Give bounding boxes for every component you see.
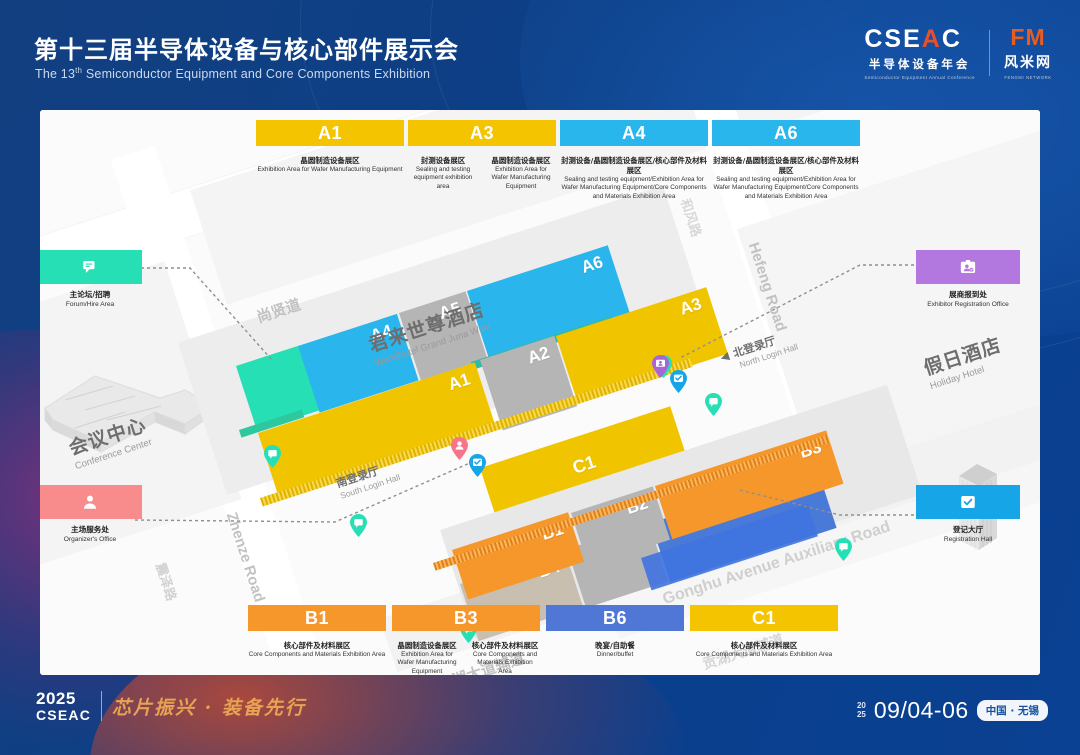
map-pin-forum-b6[interactable] [835, 538, 852, 561]
brand-lockup: CSEAC 半导体设备年会 Semiconductor Equipment An… [864, 26, 1052, 80]
chat-pin-icon [264, 445, 281, 468]
map-pin-organizer-office[interactable] [451, 437, 468, 460]
cseac-word-start: CSE [864, 27, 921, 52]
title-en-pre: The 13 [35, 67, 75, 81]
page-title-en: The 13th Semiconductor Equipment and Cor… [35, 66, 430, 81]
legend-chip-a6-col-0: 封测设备/晶圆制造设备展区/核心部件及材料展区 Sealing and test… [712, 151, 860, 201]
legend-chip-a1[interactable]: A1 晶圆制造设备展区 Exhibition Area for Wafer Ma… [256, 120, 404, 174]
legend-chip-b3-col-1-en: Core Components and Materials Exhibition… [470, 651, 540, 675]
badge-pin-icon [652, 355, 669, 378]
map-pin-registration-south[interactable] [469, 454, 486, 477]
cseac-word-accent: A [922, 27, 942, 52]
legend-chip-b1-bar: B1 [248, 605, 386, 631]
footer-year: 2025 [36, 690, 91, 707]
page-header: 第十三届半导体设备与核心部件展示会 The 13th Semiconductor… [0, 0, 1080, 110]
legend-chip-a4-bar: A4 [560, 120, 708, 146]
chat-pin-icon [350, 514, 367, 537]
legend-chip-a3-bar: A3 [408, 120, 556, 146]
legend-side-registration-box [916, 485, 1020, 519]
legend-chip-a3-col-1-en: Exhibition Area for Wafer Manufacturing … [486, 166, 556, 191]
footer-year-block: 2025 CSEAC [36, 690, 91, 722]
map-pin-exhibitor-registration[interactable] [652, 355, 669, 378]
legend-chip-a1-bar: A1 [256, 120, 404, 146]
legend-chip-b1-col-0: 核心部件及材料展区 Core Components and Materials … [248, 636, 386, 659]
footer-divider [101, 691, 102, 721]
legend-chip-a3-col-0-cn: 封测设备展区 [408, 156, 478, 166]
legend-side-forum-cn: 主论坛/招聘 [40, 289, 142, 300]
person-icon [81, 493, 99, 511]
legend-chip-c1-cols: 核心部件及材料展区 Core Components and Materials … [690, 636, 838, 659]
cseac-logo-sub: Semiconductor Equipment Annual Conferenc… [864, 75, 975, 80]
legend-chip-a4-col-0-cn: 封测设备/晶圆制造设备展区/核心部件及材料展区 [560, 156, 708, 176]
legend-chip-a1-col-0-cn: 晶圆制造设备展区 [256, 156, 404, 166]
check-card-pin-icon [670, 370, 687, 393]
legend-chip-a3-col-1: 晶圆制造设备展区 Exhibition Area for Wafer Manuf… [486, 151, 556, 191]
footer-city-badge: 中国 · 无锡 [977, 700, 1048, 721]
legend-chip-b3-bar: B3 [392, 605, 540, 631]
legend-chip-a3-col-0-en: Sealing and testing equipment exhibition… [408, 166, 478, 191]
cseac-logo-cn: 半导体设备年会 [864, 56, 975, 72]
legend-chip-a1-col-0-en: Exhibition Area for Wafer Manufacturing … [256, 166, 404, 174]
legend-chip-c1-col-0-cn: 核心部件及材料展区 [690, 641, 838, 651]
person-pin-icon [451, 437, 468, 460]
legend-chip-a1-col-0: 晶圆制造设备展区 Exhibition Area for Wafer Manuf… [256, 151, 404, 174]
legend-chip-a4[interactable]: A4 封测设备/晶圆制造设备展区/核心部件及材料展区 Sealing and t… [560, 120, 708, 201]
cseac-wordmark: CSEAC [864, 27, 975, 52]
legend-chip-c1[interactable]: C1 核心部件及材料展区 Core Components and Materia… [690, 605, 838, 659]
legend-chip-b6[interactable]: B6 晚宴/自助餐 Dinner/buffet [546, 605, 684, 659]
fm-logo-sub: FENGMI NETWORK [1004, 75, 1052, 80]
badge-icon [959, 258, 977, 276]
fm-logo: FM 风米网 FENGMI NETWORK [1004, 26, 1052, 80]
chat-icon [81, 258, 99, 276]
map-pin-forum-a4[interactable] [264, 445, 281, 468]
legend-side-exhibitor-cn: 展商报到处 [916, 289, 1020, 300]
legend-chip-b6-col-0: 晚宴/自助餐 Dinner/buffet [546, 636, 684, 659]
legend-side-forum[interactable]: 主论坛/招聘 Forum/Hire Area [40, 250, 142, 308]
legend-chip-b3-col-1-cn: 核心部件及材料展区 [470, 641, 540, 651]
map-pin-forum-a3[interactable] [705, 393, 722, 416]
footer-org: CSEAC [36, 708, 91, 722]
legend-side-registration-cn: 登记大厅 [916, 524, 1020, 535]
fm-wordmark: FM [1004, 26, 1052, 49]
legend-chip-a6-col-0-en: Sealing and testing equipment/Exhibition… [712, 176, 860, 201]
legend-side-organizer[interactable]: 主场服务处 Organizer's Office [40, 485, 142, 543]
legend-chip-b6-cols: 晚宴/自助餐 Dinner/buffet [546, 636, 684, 659]
legend-chip-a4-col-0: 封测设备/晶圆制造设备展区/核心部件及材料展区 Sealing and test… [560, 151, 708, 201]
legend-chip-b1-col-0-cn: 核心部件及材料展区 [248, 641, 386, 651]
legend-chip-b1[interactable]: B1 核心部件及材料展区 Core Components and Materia… [248, 605, 386, 659]
legend-side-registration-en: Registration Hall [916, 536, 1020, 543]
legend-chip-a6[interactable]: A6 封测设备/晶圆制造设备展区/核心部件及材料展区 Sealing and t… [712, 120, 860, 201]
page-title-cn: 第十三届半导体设备与核心部件展示会 [34, 30, 459, 65]
legend-chip-c1-col-0: 核心部件及材料展区 Core Components and Materials … [690, 636, 838, 659]
poster-root: 第十三届半导体设备与核心部件展示会 The 13th Semiconductor… [0, 0, 1080, 755]
legend-chip-b1-col-0-en: Core Components and Materials Exhibition… [248, 651, 386, 659]
map-pin-registration-north[interactable] [670, 370, 687, 393]
legend-chip-a6-cols: 封测设备/晶圆制造设备展区/核心部件及材料展区 Sealing and test… [712, 151, 860, 201]
footer-date: 09/04-06 [874, 697, 969, 724]
brand-divider [989, 30, 990, 76]
title-en-post: Semiconductor Equipment and Core Compone… [82, 67, 430, 81]
legend-chip-a4-col-0-en: Sealing and testing equipment/Exhibition… [560, 176, 708, 201]
footer-slogan: 芯片振兴 · 装备先行 [112, 693, 306, 720]
check-card-pin-icon [469, 454, 486, 477]
legend-chip-b3[interactable]: B3 晶圆制造设备展区 Exhibition Area for Wafer Ma… [392, 605, 540, 675]
legend-chip-a3[interactable]: A3 封测设备展区 Sealing and testing equipment … [408, 120, 556, 191]
legend-chip-a6-col-0-cn: 封测设备/晶圆制造设备展区/核心部件及材料展区 [712, 156, 860, 176]
fm-logo-cn: 风米网 [1004, 52, 1052, 72]
footer-year-small-bottom: 25 [857, 711, 866, 719]
legend-chip-b6-col-0-cn: 晚宴/自助餐 [546, 641, 684, 651]
legend-side-exhibitor-en: Exhibitor Registration Office [916, 301, 1020, 308]
legend-side-exhibitor-box [916, 250, 1020, 284]
legend-chip-a1-cols: 晶圆制造设备展区 Exhibition Area for Wafer Manuf… [256, 151, 404, 174]
cseac-word-end: C [942, 27, 962, 52]
legend-chip-a3-col-0: 封测设备展区 Sealing and testing equipment exh… [408, 151, 478, 191]
legend-chip-b3-cols: 晶圆制造设备展区 Exhibition Area for Wafer Manuf… [392, 636, 540, 675]
legend-chip-a4-cols: 封测设备/晶圆制造设备展区/核心部件及材料展区 Sealing and test… [560, 151, 708, 201]
legend-chip-a3-col-1-cn: 晶圆制造设备展区 [486, 156, 556, 166]
chat-pin-icon [835, 538, 852, 561]
legend-chip-a6-bar: A6 [712, 120, 860, 146]
check-card-icon [959, 493, 977, 511]
legend-side-exhibitor[interactable]: 展商报到处 Exhibitor Registration Office [916, 250, 1020, 308]
legend-side-forum-en: Forum/Hire Area [40, 301, 142, 308]
legend-chip-b6-bar: B6 [546, 605, 684, 631]
floor-map-card: A4 A5 A6 A1 A2 A3 C1 B4 [40, 110, 1040, 675]
legend-chip-c1-bar: C1 [690, 605, 838, 631]
map-pin-forum-a1[interactable] [350, 514, 367, 537]
footer-year-small: 20 25 [857, 702, 866, 719]
legend-chip-b3-col-0: 晶圆制造设备展区 Exhibition Area for Wafer Manuf… [392, 636, 462, 675]
legend-side-forum-box [40, 250, 142, 284]
legend-chip-c1-col-0-en: Core Components and Materials Exhibition… [690, 651, 838, 659]
footer-date-block: 20 25 09/04-06 中国 · 无锡 [857, 697, 1048, 724]
legend-side-organizer-cn: 主场服务处 [40, 524, 142, 535]
legend-side-organizer-en: Organizer's Office [40, 536, 142, 543]
legend-side-registration[interactable]: 登记大厅 Registration Hall [916, 485, 1020, 543]
cseac-logo: CSEAC 半导体设备年会 Semiconductor Equipment An… [864, 27, 975, 80]
legend-chip-a3-cols: 封测设备展区 Sealing and testing equipment exh… [408, 151, 556, 191]
legend-side-organizer-box [40, 485, 142, 519]
footer-logo: 2025 CSEAC 芯片振兴 · 装备先行 [36, 690, 306, 722]
legend-chip-b3-col-0-cn: 晶圆制造设备展区 [392, 641, 462, 651]
legend-chip-b3-col-1: 核心部件及材料展区 Core Components and Materials … [470, 636, 540, 675]
legend-chip-b1-cols: 核心部件及材料展区 Core Components and Materials … [248, 636, 386, 659]
legend-chip-b3-col-0-en: Exhibition Area for Wafer Manufacturing … [392, 651, 462, 675]
legend-chip-b6-col-0-en: Dinner/buffet [546, 651, 684, 659]
chat-pin-icon [705, 393, 722, 416]
